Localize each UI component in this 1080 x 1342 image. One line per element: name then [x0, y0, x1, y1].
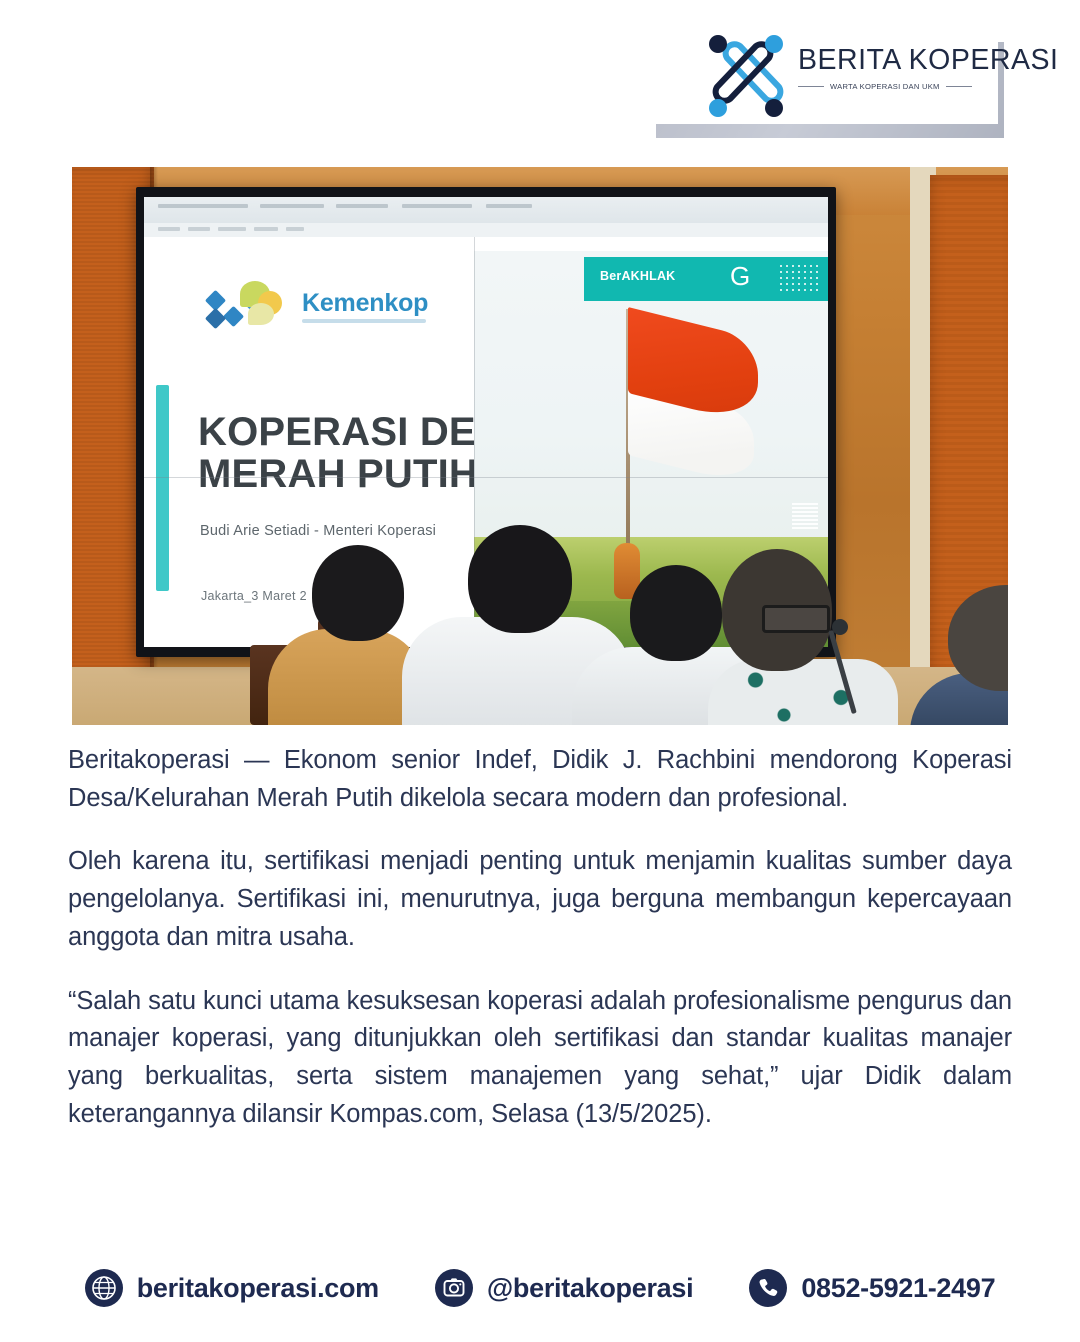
berakhlak-dot-pattern	[778, 263, 822, 295]
footer-phone-label: 0852-5921-2497	[801, 1273, 995, 1304]
microphone-head	[832, 619, 848, 635]
footer-instagram[interactable]: @beritakoperasi	[435, 1269, 693, 1307]
slide-date: Jakarta_3 Maret 2	[201, 589, 307, 603]
footer-phone[interactable]: 0852-5921-2497	[749, 1269, 995, 1307]
brand-tagline-row: WARTA KOPERASI DAN UKM	[798, 82, 997, 91]
article-body: Beritakoperasi — Ekonom senior Indef, Di…	[68, 742, 1012, 1134]
slide-accent-bar	[156, 385, 169, 591]
slide-corner-pattern	[792, 503, 818, 529]
person2-head	[468, 525, 572, 633]
instagram-icon	[435, 1269, 473, 1307]
footer-instagram-label: @beritakoperasi	[487, 1273, 693, 1304]
person3-head	[630, 565, 722, 661]
page-footer: beritakoperasi.com @beritakoperasi 0852-…	[0, 1248, 1080, 1328]
tagline-rule-right	[946, 86, 972, 87]
kemenkop-wordmark: Kemenkop	[302, 289, 428, 318]
kemenkop-subtext	[302, 319, 426, 323]
person4-glasses	[762, 605, 830, 633]
projected-app-menubar	[144, 223, 828, 237]
globe-icon	[85, 1269, 123, 1307]
article-paragraph-3: “Salah satu kunci utama kesuksesan koper…	[68, 983, 1012, 1134]
article-paragraph-2: Oleh karena itu, sertifikasi menjadi pen…	[68, 843, 1012, 956]
berakhlak-label: BerAKHLAK	[600, 269, 675, 283]
brand-logo-block: BERITA KOPERASI WARTA KOPERASI DAN UKM	[650, 28, 1008, 140]
brand-title: BERITA KOPERASI	[798, 46, 998, 75]
kemenkop-logo: Kemenkop	[206, 279, 436, 335]
berakhlak-mark: G	[730, 261, 750, 292]
footer-website-label: beritakoperasi.com	[137, 1273, 379, 1304]
press-conference-photo: Kemenkop KOPERASI DESA MERAH PUTIH Budi …	[72, 167, 1008, 725]
interlocking-x-logo-icon	[698, 30, 794, 122]
tagline-rule-left	[798, 86, 824, 87]
page-header: BERITA KOPERASI WARTA KOPERASI DAN UKM	[0, 0, 1080, 160]
projected-app-toolbar	[144, 197, 828, 223]
brand-tagline: WARTA KOPERASI DAN UKM	[830, 82, 940, 91]
person1-head	[312, 545, 404, 641]
brand-card: BERITA KOPERASI WARTA KOPERASI DAN UKM	[650, 28, 998, 124]
article-paragraph-1: Beritakoperasi — Ekonom senior Indef, Di…	[68, 742, 1012, 817]
slide-subtitle: Budi Arie Setiadi - Menteri Koperasi	[200, 523, 436, 539]
person4-batik-shirt	[708, 659, 898, 725]
phone-icon	[749, 1269, 787, 1307]
projector-seam-horizontal	[144, 477, 828, 478]
footer-website[interactable]: beritakoperasi.com	[85, 1269, 379, 1307]
berakhlak-banner: BerAKHLAK G	[584, 257, 828, 301]
